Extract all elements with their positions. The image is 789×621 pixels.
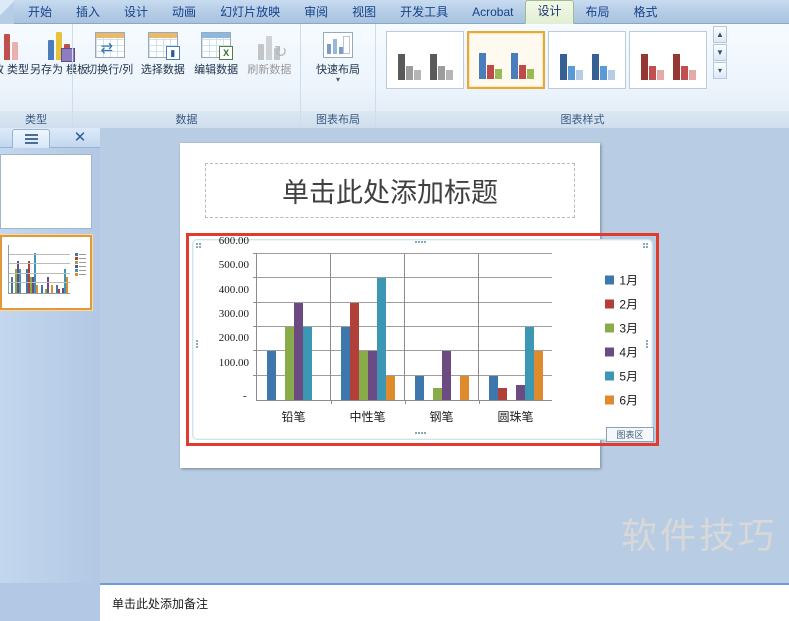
notes-placeholder: 单击此处添加备注: [100, 585, 789, 612]
gallery-bar-cluster: [560, 54, 583, 80]
refresh-data-icon: ↻: [253, 30, 285, 62]
edit-data-icon: X: [200, 30, 232, 62]
legend-label: 6月: [619, 391, 638, 408]
legend-item[interactable]: 3月: [605, 319, 638, 336]
ribbon-tab-2[interactable]: 设计: [112, 1, 160, 24]
chart-bar[interactable]: [267, 351, 276, 400]
legend-item[interactable]: 2月: [605, 295, 638, 312]
office-button-corner[interactable]: [0, 0, 14, 24]
ribbon-tab-9[interactable]: 设计: [525, 0, 573, 24]
chart-area-button-label: 图表区: [616, 428, 643, 441]
chart-bar[interactable]: [433, 388, 442, 400]
ribbon-tab-bar: 开始插入设计动画幻灯片放映审阅视图开发工具Acrobat设计布局格式: [0, 0, 789, 24]
switch-row-column-icon: ⇄: [94, 30, 126, 62]
legend-item[interactable]: 4月: [605, 343, 638, 360]
ribbon-group-data: ⇄ 切换行/列 ▮ 选择数据 X 编辑数据: [72, 24, 300, 128]
chart-category-group: 中性笔: [330, 254, 404, 400]
chart-bar[interactable]: [350, 303, 359, 400]
gallery-bar-cluster: [430, 54, 453, 80]
x-axis-tick-mark: [479, 400, 480, 404]
y-axis-tick-label: 200.00: [195, 332, 257, 344]
select-data-button[interactable]: ▮ 选择数据: [138, 28, 187, 79]
style-red[interactable]: [629, 31, 707, 89]
switch-row-column-button[interactable]: ⇄ 切换行/列: [85, 28, 134, 79]
legend-swatch: [605, 395, 614, 404]
gallery-bar-cluster: [479, 53, 502, 79]
y-axis-tick-label: 400.00: [195, 284, 257, 296]
chart-bar[interactable]: [368, 351, 377, 400]
chart-bar[interactable]: [303, 327, 312, 400]
chart-category-group: 钢笔: [404, 254, 478, 400]
gallery-bar-cluster: [641, 54, 664, 80]
y-axis-tick-label: 300.00: [195, 308, 257, 320]
ribbon-group-chart-styles-title: 图表样式: [376, 111, 789, 128]
legend-label: 4月: [619, 343, 638, 360]
bar-chart: 100.00200.00300.00400.00500.00600.00铅笔中性…: [193, 240, 652, 439]
watermark: 软件技巧: [621, 507, 777, 559]
ribbon-group-chart-styles: ▲ ▼ ▾ 图表样式: [375, 24, 789, 128]
gallery-bar-cluster: [592, 54, 615, 80]
select-data-label: 选择数据: [141, 64, 185, 76]
legend-swatch: [605, 371, 614, 380]
ribbon-tab-6[interactable]: 视图: [340, 1, 388, 24]
change-chart-type-label: 改 类型: [0, 64, 29, 76]
switch-row-column-label: 切换行/列: [86, 64, 133, 76]
x-axis-category-label: 圆珠笔: [479, 408, 552, 425]
title-placeholder-text: 单击此处添加标题: [282, 171, 498, 210]
legend-swatch: [605, 347, 614, 356]
legend-item[interactable]: 1月: [605, 271, 638, 288]
gallery-bar-cluster: [398, 54, 421, 80]
chevron-down-icon[interactable]: ▾: [336, 77, 340, 83]
chart-selection-frame[interactable]: 100.00200.00300.00400.00500.00600.00铅笔中性…: [186, 233, 659, 446]
y-axis-tick-label: 100.00: [195, 357, 257, 369]
hamburger-icon: [25, 134, 38, 144]
slide-thumbnail-1[interactable]: [0, 154, 92, 229]
chart-bar[interactable]: [525, 327, 534, 400]
ribbon-tab-3[interactable]: 动画: [160, 1, 208, 24]
chart-bar[interactable]: [285, 327, 294, 400]
chart-bar[interactable]: [294, 303, 303, 400]
close-icon[interactable]: ✕: [72, 130, 88, 146]
chart-bar[interactable]: [498, 388, 507, 400]
title-placeholder[interactable]: 单击此处添加标题: [205, 163, 575, 218]
outline-tab[interactable]: [12, 129, 50, 148]
chart-plot-area: 100.00200.00300.00400.00500.00600.00铅笔中性…: [256, 254, 552, 401]
select-data-icon: ▮: [147, 30, 179, 62]
save-as-template-icon: [43, 30, 75, 62]
ribbon-tab-7[interactable]: 开发工具: [388, 1, 460, 24]
style-colorful[interactable]: [467, 31, 545, 89]
ribbon-tab-5[interactable]: 审阅: [292, 1, 340, 24]
ribbon-tab-1[interactable]: 插入: [64, 1, 112, 24]
ribbon-tabs: 开始插入设计动画幻灯片放映审阅视图开发工具Acrobat设计布局格式: [0, 0, 789, 24]
x-axis-tick-mark: [331, 400, 332, 404]
chart-styles-gallery[interactable]: [382, 26, 709, 89]
y-axis-zero-label: -: [243, 390, 247, 402]
y-axis-tick-label: 500.00: [195, 259, 257, 271]
y-axis-tick-label: 600.00: [195, 235, 257, 247]
refresh-data-button[interactable]: ↻ 刷新数据: [245, 28, 294, 79]
chart-category-group: 圆珠笔: [478, 254, 552, 400]
ribbon-tab-10[interactable]: 布局: [574, 1, 622, 24]
slide-editing-stage: 单击此处添加标题 100.00200.00300.00400.00500.006…: [100, 128, 789, 581]
slide-canvas[interactable]: 单击此处添加标题 100.00200.00300.00400.00500.006…: [180, 143, 600, 468]
chart-object[interactable]: 100.00200.00300.00400.00500.00600.00铅笔中性…: [192, 239, 653, 440]
legend-label: 3月: [619, 319, 638, 336]
x-axis-category-label: 钢笔: [405, 408, 478, 425]
ribbon-group-data-title: 数据: [73, 111, 300, 128]
x-axis-tick-mark: [405, 400, 406, 404]
legend-item[interactable]: 5月: [605, 367, 638, 384]
slide-panel-header: ✕: [0, 128, 100, 148]
ribbon-tab-11[interactable]: 格式: [622, 1, 670, 24]
ribbon-group-type: 改 类型 另存为 模板 类型: [0, 24, 72, 128]
chart-bar[interactable]: [534, 351, 543, 400]
slide-thumbnail-panel: ✕: [0, 128, 100, 621]
gallery-bar-cluster: [511, 53, 534, 79]
chart-bar[interactable]: [460, 376, 469, 400]
legend-label: 2月: [619, 295, 638, 312]
chart-bar[interactable]: [341, 327, 350, 400]
ribbon-group-chart-layout-title: 图表布局: [301, 111, 375, 128]
chart-area-button[interactable]: 图表区: [606, 427, 654, 442]
gallery-scroll-up-button[interactable]: ▲: [713, 26, 727, 43]
quick-layout-icon: [322, 30, 354, 62]
chart-bar[interactable]: [415, 376, 424, 400]
chart-category-group: 铅笔: [257, 254, 330, 400]
x-axis-category-label: 中性笔: [331, 408, 404, 425]
change-chart-type-icon: [0, 30, 27, 62]
ribbon-tab-4[interactable]: 幻灯片放映: [208, 1, 292, 24]
chart-categories: 铅笔中性笔钢笔圆珠笔: [257, 254, 552, 400]
gallery-scroll-down-button[interactable]: ▼: [713, 44, 727, 61]
ribbon-tab-0[interactable]: 开始: [16, 1, 64, 24]
chart-bar[interactable]: [442, 351, 451, 400]
style-grayscale[interactable]: [386, 31, 464, 89]
ribbon-group-type-title: 类型: [0, 111, 72, 128]
legend-swatch: [605, 275, 614, 284]
ribbon-group-chart-layout: 快速布局 ▾ 图表布局: [300, 24, 375, 128]
chart-bar[interactable]: [489, 376, 498, 400]
legend-item[interactable]: 6月: [605, 391, 638, 408]
quick-layout-button[interactable]: 快速布局 ▾: [307, 28, 369, 85]
gallery-bar-cluster: [673, 54, 696, 80]
chart-bar[interactable]: [386, 376, 395, 400]
gallery-more-button[interactable]: ▾: [713, 62, 727, 79]
slide-thumbnail-2[interactable]: [0, 235, 92, 310]
notes-left-filler: [0, 583, 100, 621]
edit-data-label: 编辑数据: [194, 64, 238, 76]
edit-data-button[interactable]: X 编辑数据: [192, 28, 241, 79]
refresh-data-label: 刷新数据: [247, 64, 291, 76]
chart-bar[interactable]: [516, 385, 525, 400]
legend-swatch: [605, 323, 614, 332]
legend-swatch: [605, 299, 614, 308]
ribbon-body: 改 类型 另存为 模板 类型 ⇄: [0, 24, 789, 128]
change-chart-type-button[interactable]: 改 类型: [0, 28, 30, 79]
legend-label: 1月: [619, 271, 638, 288]
chart-bar[interactable]: [377, 278, 386, 400]
style-blue[interactable]: [548, 31, 626, 89]
thumbnail-chart-preview: [6, 243, 86, 300]
notes-pane[interactable]: 单击此处添加备注: [100, 583, 789, 621]
ribbon-tab-8[interactable]: Acrobat: [460, 1, 525, 24]
chart-legend[interactable]: 1月2月3月4月5月6月: [605, 271, 638, 408]
gallery-scroll[interactable]: ▲ ▼ ▾: [713, 26, 727, 79]
legend-label: 5月: [619, 367, 638, 384]
chart-bar[interactable]: [359, 351, 368, 400]
x-axis-category-label: 铅笔: [257, 408, 330, 425]
